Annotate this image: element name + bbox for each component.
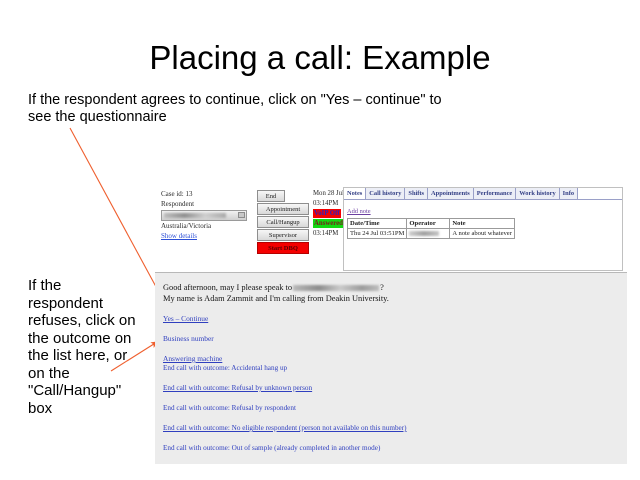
outcome-refusal-respondent[interactable]: End call with outcome: Refusal by respon… bbox=[163, 404, 583, 412]
call-control-buttons: End Appointment Call/Hangup Supervisor S… bbox=[257, 190, 309, 255]
page-title: Placing a call: Example bbox=[0, 38, 640, 78]
tab-call-history[interactable]: Call history bbox=[366, 188, 405, 199]
annotation-top-text: If the respondent agrees to continue, cl… bbox=[28, 92, 458, 126]
respondent-select[interactable] bbox=[161, 210, 247, 221]
operator-tab-panel: Notes Call history Shifts Appointments P… bbox=[343, 187, 623, 271]
call-hangup-button[interactable]: Call/Hangup bbox=[257, 216, 309, 228]
link-answering-machine[interactable]: Answering machine bbox=[163, 354, 563, 363]
script-line1-before: Good afternoon, may I please speak to bbox=[163, 283, 292, 292]
cell-datetime: Thu 24 Jul 03:51PM bbox=[348, 229, 407, 239]
voip-status-badge: VoIP Off bbox=[313, 209, 341, 218]
case-id-label: Case id: 13 bbox=[161, 190, 257, 200]
slide: Placing a call: Example If the responden… bbox=[0, 0, 640, 480]
arrow-to-script bbox=[70, 128, 161, 296]
answered-status-badge: Answered bbox=[313, 219, 344, 228]
column-header-operator: Operator bbox=[407, 219, 450, 229]
outcome-refusal-unknown-person[interactable]: End call with outcome: Refusal by unknow… bbox=[163, 384, 583, 392]
add-note-link[interactable]: Add note bbox=[347, 208, 371, 215]
show-details-link[interactable]: Show details bbox=[161, 232, 197, 240]
outcome-no-eligible-respondent[interactable]: End call with outcome: No eligible respo… bbox=[163, 424, 583, 432]
cell-note: A note about whatever bbox=[450, 229, 515, 239]
link-business-number[interactable]: Business number bbox=[163, 334, 563, 343]
case-info-block: Case id: 13 Respondent Australia/Victori… bbox=[161, 190, 257, 241]
script-line1-after: ? bbox=[380, 283, 384, 292]
appointment-button[interactable]: Appointment bbox=[257, 203, 309, 215]
annotation-left-text: If the respondent refuses, click on the … bbox=[28, 277, 140, 417]
respondent-value-redacted bbox=[164, 213, 226, 218]
column-header-datetime: Date/Time bbox=[348, 219, 407, 229]
outcome-accidental-hangup[interactable]: End call with outcome: Accidental hang u… bbox=[163, 364, 583, 372]
end-button[interactable]: End bbox=[257, 190, 285, 202]
column-header-note: Note bbox=[450, 219, 515, 229]
call-script-text: Good afternoon, may I please speak to? M… bbox=[163, 282, 523, 304]
tab-info[interactable]: Info bbox=[560, 188, 578, 199]
cell-operator bbox=[407, 229, 450, 239]
embedded-app-screenshot: Case id: 13 Respondent Australia/Victori… bbox=[155, 184, 627, 464]
tab-work-history[interactable]: Work history bbox=[516, 188, 559, 199]
script-line2: My name is Adam Zammit and I'm calling f… bbox=[163, 294, 389, 303]
tab-shifts[interactable]: Shifts bbox=[405, 188, 428, 199]
tab-notes[interactable]: Notes bbox=[344, 188, 366, 199]
tab-performance[interactable]: Performance bbox=[474, 188, 516, 199]
link-yes-continue[interactable]: Yes – Continue bbox=[163, 314, 563, 323]
tab-appointments[interactable]: Appointments bbox=[428, 188, 474, 199]
call-outcome-links: End call with outcome: Accidental hang u… bbox=[163, 364, 583, 464]
table-header-row: Date/Time Operator Note bbox=[348, 219, 515, 229]
table-row: Thu 24 Jul 03:51PM A note about whatever bbox=[348, 229, 515, 239]
outcome-out-of-sample[interactable]: End call with outcome: Out of sample (al… bbox=[163, 444, 583, 452]
respondent-label: Respondent bbox=[161, 200, 257, 210]
timezone-label: Australia/Victoria bbox=[161, 222, 257, 232]
start-dbq-button[interactable]: Start DBQ bbox=[257, 242, 309, 254]
supervisor-button[interactable]: Supervisor bbox=[257, 229, 309, 241]
respondent-name-redacted bbox=[293, 285, 379, 291]
operator-redacted bbox=[409, 231, 439, 236]
notes-table: Date/Time Operator Note Thu 24 Jul 03:51… bbox=[347, 218, 515, 239]
tab-bar: Notes Call history Shifts Appointments P… bbox=[344, 188, 622, 200]
